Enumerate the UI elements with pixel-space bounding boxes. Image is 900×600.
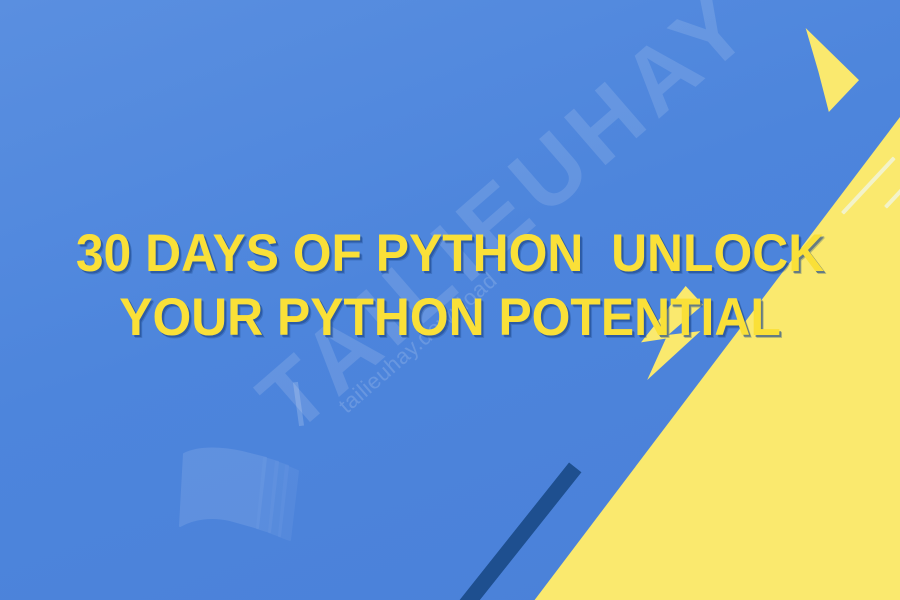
navy-diagonal-bar bbox=[417, 462, 582, 600]
navy-bar-clip bbox=[0, 0, 900, 600]
banner-canvas: TAILIEUHAY tailieuhay.download 30 DAYS O… bbox=[0, 0, 900, 600]
